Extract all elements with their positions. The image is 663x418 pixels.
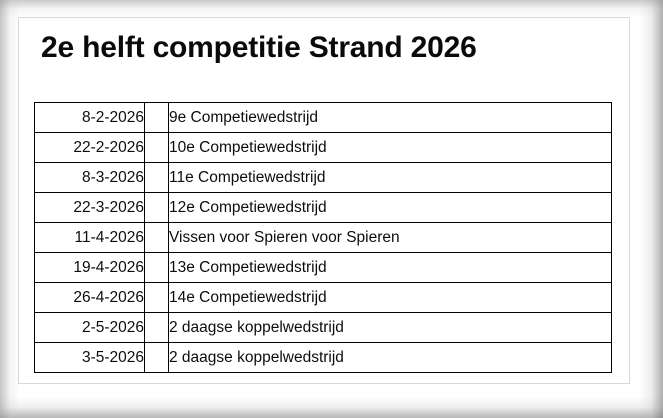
cell-description: 12e Competiewedstrijd — [169, 193, 612, 223]
cell-date: 8-3-2026 — [35, 163, 145, 193]
cell-description: 9e Competiewedstrijd — [169, 103, 612, 133]
table-row: 22-3-202612e Competiewedstrijd — [35, 193, 612, 223]
table-row: 8-2-20269e Competiewedstrijd — [35, 103, 612, 133]
competition-schedule-table: 8-2-20269e Competiewedstrijd22-2-202610e… — [34, 102, 612, 373]
document-page: 2e helft competitie Strand 2026 8-2-2026… — [18, 17, 630, 384]
table-row: 3-5-20262 daagse koppelwedstrijd — [35, 343, 612, 373]
cell-date: 22-2-2026 — [35, 133, 145, 163]
cell-marker — [145, 253, 169, 283]
cell-marker — [145, 103, 169, 133]
cell-description: Vissen voor Spieren voor Spieren — [169, 223, 612, 253]
cell-marker — [145, 223, 169, 253]
cell-date: 8-2-2026 — [35, 103, 145, 133]
cell-date: 2-5-2026 — [35, 313, 145, 343]
table-row: 2-5-20262 daagse koppelwedstrijd — [35, 313, 612, 343]
cell-description: 10e Competiewedstrijd — [169, 133, 612, 163]
cell-description: 11e Competiewedstrijd — [169, 163, 612, 193]
cell-date: 19-4-2026 — [35, 253, 145, 283]
cell-marker — [145, 283, 169, 313]
cell-date: 22-3-2026 — [35, 193, 145, 223]
cell-marker — [145, 133, 169, 163]
cell-description: 14e Competiewedstrijd — [169, 283, 612, 313]
cell-date: 11-4-2026 — [35, 223, 145, 253]
cell-marker — [145, 163, 169, 193]
cell-date: 26-4-2026 — [35, 283, 145, 313]
table-row: 11-4-2026Vissen voor Spieren voor Spiere… — [35, 223, 612, 253]
cell-marker — [145, 343, 169, 373]
cell-description: 2 daagse koppelwedstrijd — [169, 343, 612, 373]
table-row: 26-4-202614e Competiewedstrijd — [35, 283, 612, 313]
document-canvas: 2e helft competitie Strand 2026 8-2-2026… — [0, 0, 663, 418]
schedule-table-body: 8-2-20269e Competiewedstrijd22-2-202610e… — [35, 103, 612, 373]
cell-description: 13e Competiewedstrijd — [169, 253, 612, 283]
page-title: 2e helft competitie Strand 2026 — [41, 31, 477, 65]
cell-date: 3-5-2026 — [35, 343, 145, 373]
cell-description: 2 daagse koppelwedstrijd — [169, 313, 612, 343]
cell-marker — [145, 313, 169, 343]
cell-marker — [145, 193, 169, 223]
table-row: 19-4-202613e Competiewedstrijd — [35, 253, 612, 283]
table-row: 8-3-202611e Competiewedstrijd — [35, 163, 612, 193]
table-row: 22-2-202610e Competiewedstrijd — [35, 133, 612, 163]
